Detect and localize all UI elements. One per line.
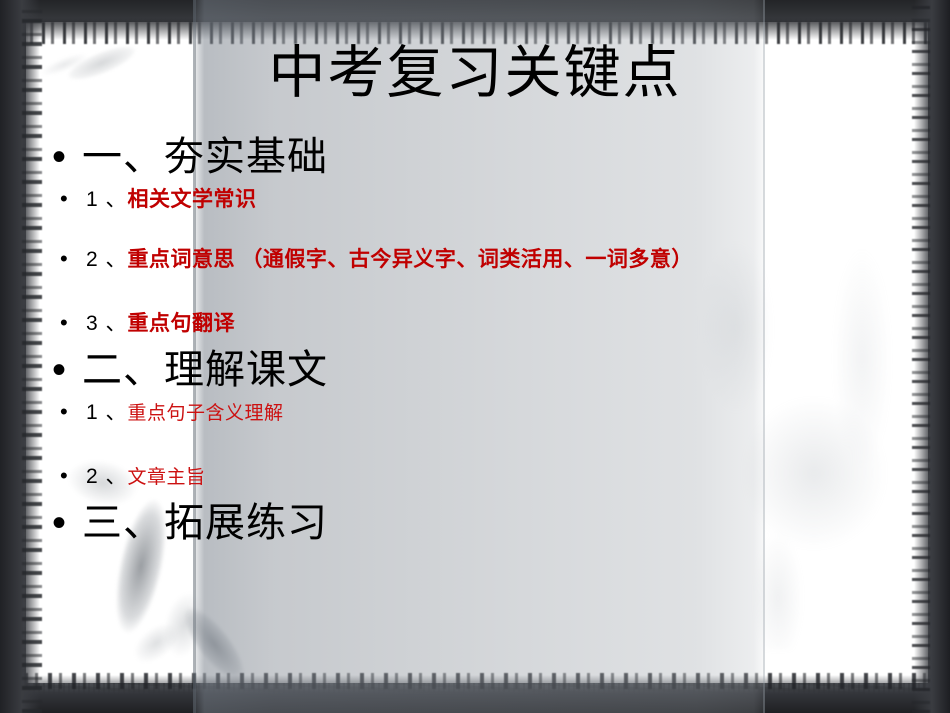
outline-item-label: 三、拓展练习 [82,500,328,547]
outline-item-emphasis: 重点句子含义理解 [128,398,284,425]
slide-title: 中考复习关键点 [0,44,950,104]
outline-item-1-1: • 1 、 相关文学常识 [52,183,910,213]
bullet-large-icon: • [52,503,82,543]
outline-item-section-2: • 二、理解课文 [52,347,910,394]
spacer [52,213,910,243]
bullet-large-icon: • [52,350,82,390]
outline-item-label: 一、夯实基础 [82,134,328,181]
bullet-small-icon: • [52,312,86,334]
slide-content: 中考复习关键点 • 一、夯实基础 • 1 、 相关文学常识 • 2 、 重点词意… [0,0,950,713]
outline-item-2-2: • 2 、 文章主旨 [52,460,910,490]
presentation-slide: 中考复习关键点 • 一、夯实基础 • 1 、 相关文学常识 • 2 、 重点词意… [0,0,950,713]
spacer [52,490,910,500]
outline-item-2-1: • 1 、 重点句子含义理解 [52,396,910,426]
outline-item-emphasis: 重点词意思 （通假字、古今异义字、词类活用、一词多意） [128,243,693,273]
bullet-small-icon: • [52,188,86,210]
outline-item-emphasis: 相关文学常识 [128,183,257,213]
outline-item-number: 3 、 [86,307,128,337]
spacer [52,426,910,460]
outline-item-number: 2 、 [86,243,128,273]
outline-item-section-1: • 一、夯实基础 [52,134,910,181]
spacer [52,337,910,347]
outline-item-label: 二、理解课文 [82,347,328,394]
bullet-large-icon: • [52,137,82,177]
slide-outline-list: • 一、夯实基础 • 1 、 相关文学常识 • 2 、 重点词意思 （通假字、古… [52,134,910,550]
bullet-small-icon: • [52,465,86,487]
outline-item-1-2: • 2 、 重点词意思 （通假字、古今异义字、词类活用、一词多意） [52,243,910,273]
spacer [52,273,910,307]
outline-item-number: 1 、 [86,396,128,426]
outline-item-section-3: • 三、拓展练习 [52,500,910,547]
bullet-small-icon: • [52,401,86,423]
outline-item-number: 1 、 [86,183,128,213]
bullet-small-icon: • [52,248,86,270]
outline-item-1-3: • 3 、 重点句翻译 [52,307,910,337]
outline-item-number: 2 、 [86,460,128,490]
outline-item-emphasis: 重点句翻译 [128,307,236,337]
outline-item-emphasis: 文章主旨 [128,462,206,489]
